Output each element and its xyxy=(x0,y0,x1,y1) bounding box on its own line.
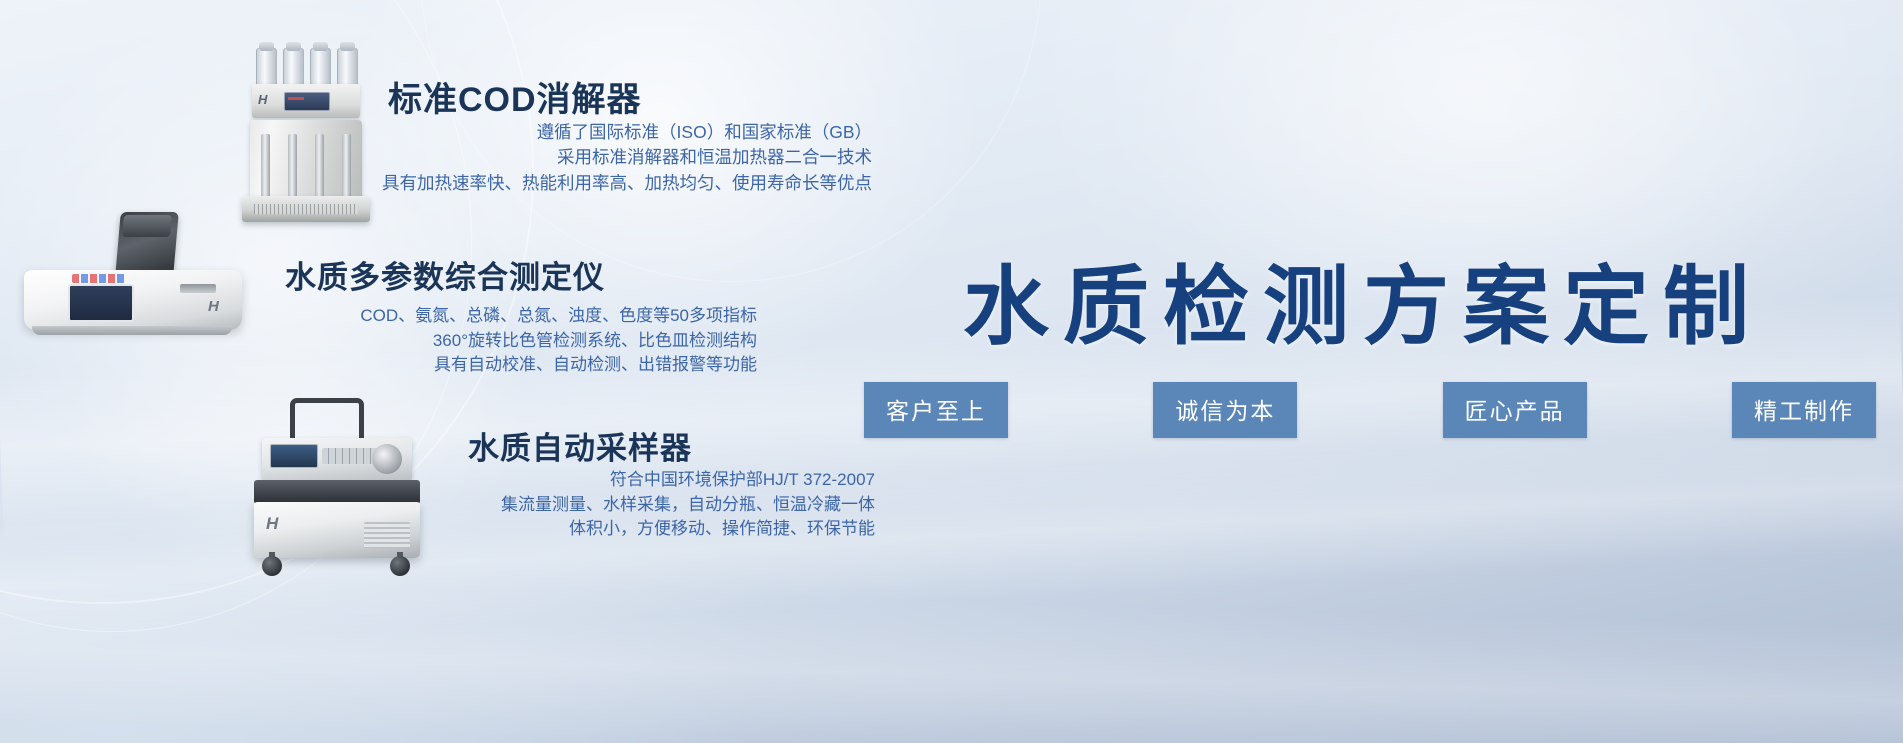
digester-display xyxy=(284,92,330,111)
product-title: 标准COD消解器 xyxy=(388,72,642,121)
product-description-line: COD、氨氮、总磷、总氮、浊度、色度等50多项指标 xyxy=(0,307,757,326)
product-description-line: 采用标准消解器和恒温加热器二合一技术 xyxy=(0,148,872,167)
analyzer-cuvette-slot xyxy=(180,284,216,293)
slogan-pill-integrity[interactable]: 诚信为本 xyxy=(1153,382,1297,438)
analyzer-lid-top xyxy=(122,215,172,237)
product-description: COD、氨氮、总磷、总氮、浊度、色度等50多项指标 360°旋转比色管检测系统、… xyxy=(0,307,757,381)
banner-headline: 水质检测方案定制 xyxy=(858,236,1868,361)
slogan-pill-craftsmanship[interactable]: 匠心产品 xyxy=(1443,382,1587,438)
sampler-display xyxy=(270,444,318,468)
product-description-line: 遵循了国际标准（ISO）和国家标准（GB） xyxy=(0,123,872,142)
product-title: 水质多参数综合测定仪 xyxy=(285,252,605,297)
product-description: 符合中国环境保护部HJ/T 372-2007 集流量测量、水样采集，自动分瓶、恒… xyxy=(0,471,875,545)
product-description-line: 具有加热速率快、热能利用率高、加热均匀、使用寿命长等优点 xyxy=(0,174,872,193)
product-description-line: 360°旋转比色管检测系统、比色皿检测结构 xyxy=(0,332,757,351)
product-description: 遵循了国际标准（ISO）和国家标准（GB） 采用标准消解器和恒温加热器二合一技术… xyxy=(0,123,872,199)
vent-grill xyxy=(254,204,358,214)
slogan-pill-group: 客户至上 诚信为本 匠心产品 精工制作 xyxy=(864,382,1876,438)
product-description-line: 体积小，方便移动、操作简捷、环保节能 xyxy=(0,520,875,539)
product-description-line: 具有自动校准、自动检测、出错报警等功能 xyxy=(0,356,757,375)
slogan-pill-customer-first[interactable]: 客户至上 xyxy=(864,382,1008,438)
product-title: 水质自动采样器 xyxy=(468,423,692,468)
water-quality-banner: H H H xyxy=(0,0,1903,743)
product-description-line: 集流量测量、水样采集，自动分瓶、恒温冷藏一体 xyxy=(0,496,875,515)
product-description-line: 符合中国环境保护部HJ/T 372-2007 xyxy=(0,471,875,490)
sampler-keypad xyxy=(322,448,378,464)
wave-streak-decoration xyxy=(0,571,1903,743)
slogan-pill-fine-making[interactable]: 精工制作 xyxy=(1732,382,1876,438)
caster-wheel xyxy=(390,556,410,576)
caster-wheel xyxy=(262,556,282,576)
analyzer-keypad xyxy=(72,274,126,283)
sampler-peristaltic-pump xyxy=(372,444,402,474)
brand-logo-icon: H xyxy=(258,92,274,108)
